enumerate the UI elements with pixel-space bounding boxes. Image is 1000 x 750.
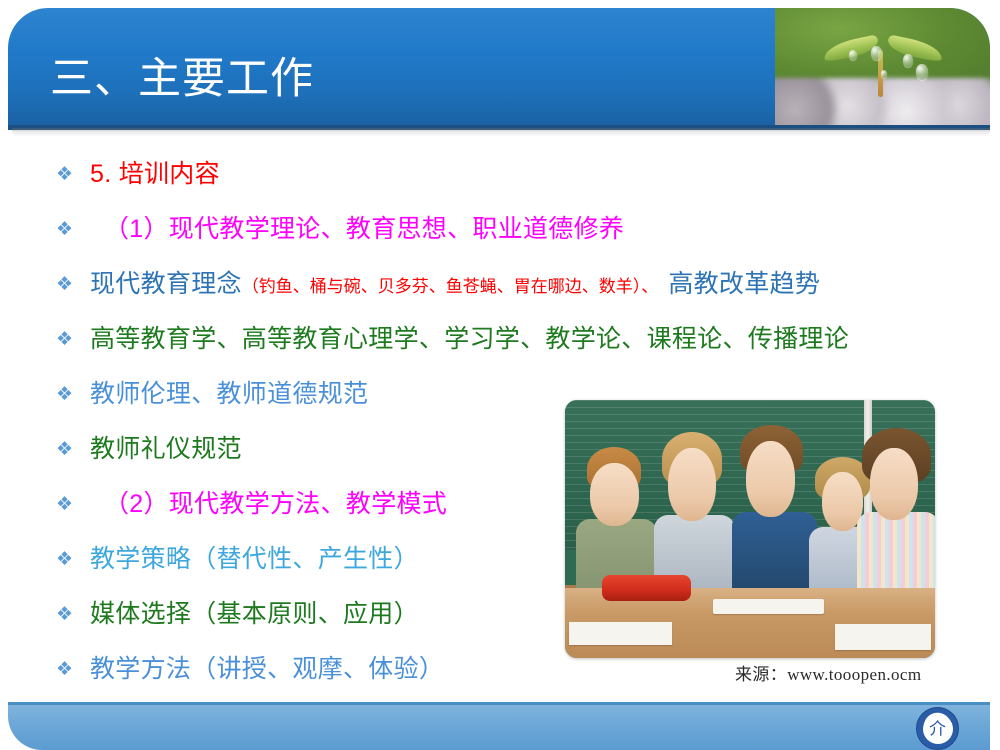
classroom-teacher-and-children-photo <box>565 400 935 658</box>
text-segment: 教学方法（讲授、观摩、体验） <box>90 655 444 683</box>
diamond-bullet-icon: ❖ <box>56 605 90 624</box>
paper-sheet <box>713 599 824 614</box>
header-shadow <box>12 128 990 137</box>
photo-source-caption: 来源：www.tooopen.ocm <box>735 660 921 685</box>
child-figure <box>857 428 935 588</box>
list-item: ❖ 高等教育学、高等教育心理学、学习学、教学论、课程论、传播理论 <box>56 323 986 378</box>
dew-droplet <box>849 50 857 60</box>
list-item-text: 5. 培训内容 <box>90 158 220 190</box>
head <box>668 448 715 522</box>
university-emblem-logo: 介 <box>916 707 959 750</box>
list-item: ❖ （1）现代教学理论、教育思想、职业道德修养 <box>56 213 986 268</box>
teacher-figure <box>654 428 735 588</box>
diamond-bullet-icon: ❖ <box>56 275 90 294</box>
emblem-glyph: 介 <box>929 721 946 738</box>
head <box>590 463 639 527</box>
text-segment-annotation: （钓鱼、桶与碗、贝多芬、鱼苍蝇、胃在哪边、数羊）、 <box>242 277 659 296</box>
text-segment: 教学策略（替代性、产生性） <box>90 545 419 573</box>
red-pencil-case <box>602 575 691 601</box>
list-item: ❖ 5. 培训内容 <box>56 158 986 213</box>
text-segment: 高教改革趋势 <box>658 270 820 298</box>
diamond-bullet-icon: ❖ <box>56 330 90 349</box>
header-banner: 三、主要工作 <box>8 8 990 130</box>
text-segment: 教师礼仪规范 <box>90 435 242 463</box>
head <box>870 448 917 520</box>
head <box>746 441 795 517</box>
diamond-bullet-icon: ❖ <box>56 495 90 514</box>
list-item-text: （2）现代教学方法、教学模式 <box>90 488 447 520</box>
diamond-bullet-icon: ❖ <box>56 165 90 184</box>
torso <box>857 512 935 589</box>
sprout-with-dew-photo <box>775 8 990 125</box>
child-figure <box>732 423 817 588</box>
slide-canvas: 三、主要工作 ❖ 5. 培训内容 ❖ （1）现代教学理论、教育思想、职业道德修养… <box>0 0 1000 750</box>
list-item-text: 教学方法（讲授、观摩、体验） <box>90 653 444 685</box>
list-item-text: 教师礼仪规范 <box>90 433 242 465</box>
list-item-text: 高等教育学、高等教育心理学、学习学、教学论、课程论、传播理论 <box>90 323 849 355</box>
dew-droplet <box>903 54 913 67</box>
text-segment: 现代教育理念 <box>90 270 242 298</box>
text-segment: 教师伦理、教师道德规范 <box>90 380 368 408</box>
diamond-bullet-icon: ❖ <box>56 385 90 404</box>
list-item-text: 媒体选择（基本原则、应用） <box>90 598 419 630</box>
torso <box>732 512 817 588</box>
list-item-text: （1）现代教学理论、教育思想、职业道德修养 <box>90 213 624 245</box>
dew-droplet <box>916 64 928 80</box>
dew-droplet <box>871 46 882 60</box>
diamond-bullet-icon: ❖ <box>56 660 90 679</box>
diamond-bullet-icon: ❖ <box>56 550 90 569</box>
text-segment: 高等教育学、高等教育心理学、学习学、教学论、课程论、传播理论 <box>90 325 849 353</box>
page-title: 三、主要工作 <box>50 53 314 105</box>
list-item-text: 教学策略（替代性、产生性） <box>90 543 419 575</box>
text-segment: 5. 培训内容 <box>90 160 220 188</box>
text-segment: （1）现代教学理论、教育思想、职业道德修养 <box>104 215 624 243</box>
paper-sheet <box>569 622 673 645</box>
paper-sheet <box>835 624 931 650</box>
text-segment: 媒体选择（基本原则、应用） <box>90 600 419 628</box>
list-item: ❖ 现代教育理念（钓鱼、桶与碗、贝多芬、鱼苍蝇、胃在哪边、数羊）、高教改革趋势 <box>56 268 986 323</box>
text-segment: （2）现代教学方法、教学模式 <box>104 490 447 518</box>
footer-banner <box>8 705 990 750</box>
dew-droplet <box>881 70 887 78</box>
list-item-text: 现代教育理念（钓鱼、桶与碗、贝多芬、鱼苍蝇、胃在哪边、数羊）、高教改革趋势 <box>90 268 820 303</box>
diamond-bullet-icon: ❖ <box>56 440 90 459</box>
diamond-bullet-icon: ❖ <box>56 220 90 239</box>
child-figure <box>576 444 657 588</box>
list-item-text: 教师伦理、教师道德规范 <box>90 378 368 410</box>
